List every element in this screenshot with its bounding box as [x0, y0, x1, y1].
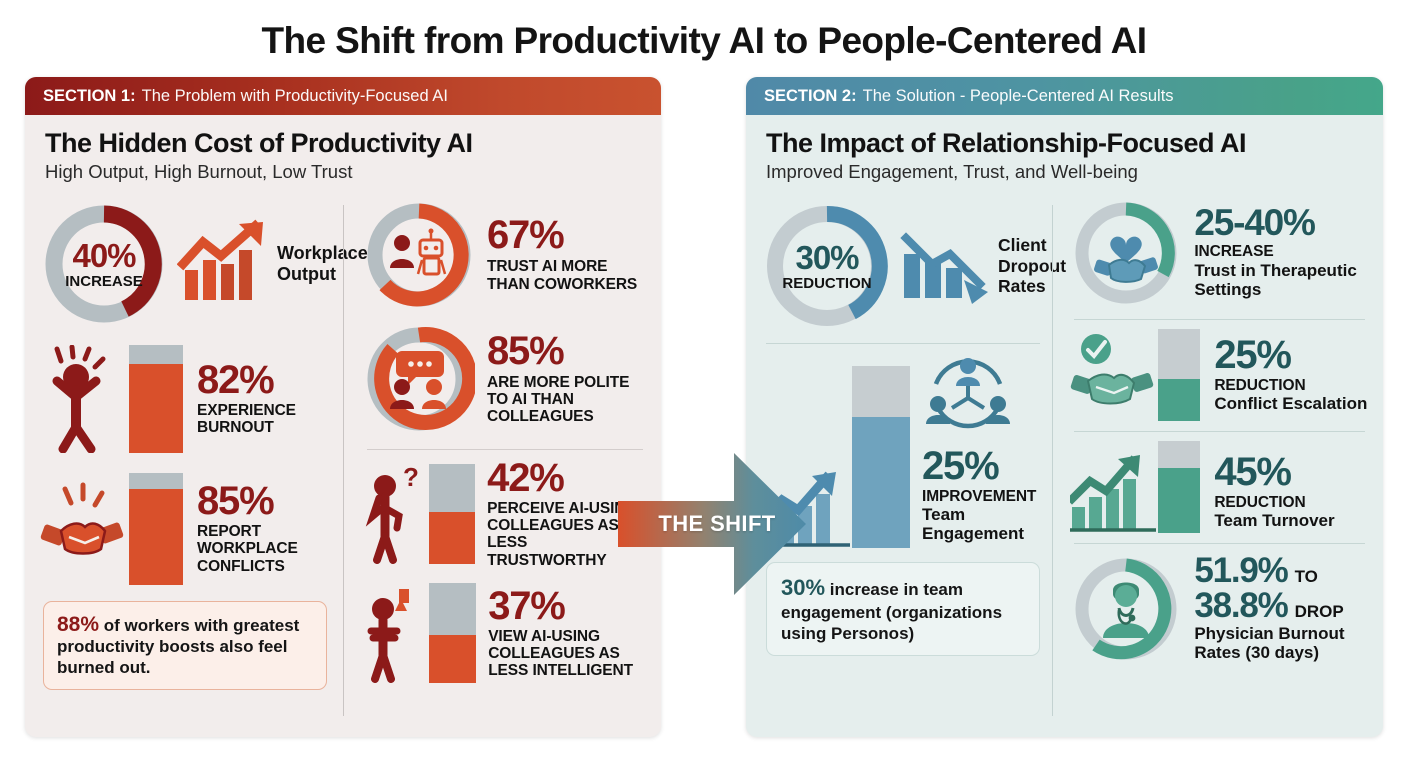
donut-40-value: 40%	[72, 239, 135, 272]
section-2-head: The Impact of Relationship-Focused AI Im…	[746, 115, 1383, 187]
donut-30-reduction: 30% REDUCTION	[760, 199, 894, 333]
trust-therapeutic-sublabel: Trust in TherapeuticSettings	[1194, 261, 1356, 300]
trust-ai-caption: TRUST AI MORE THAN COWORKERS	[487, 258, 647, 293]
physician-sublabel: Physician BurnoutRates (30 days)	[1194, 624, 1344, 663]
trust-therapeutic-value: 25-40%	[1194, 205, 1356, 240]
stat-less-trustworthy: ? 42%	[363, 459, 647, 569]
rising-arrow-chart-icon-green	[1070, 441, 1156, 533]
section-1-vertical-divider	[343, 205, 344, 716]
team-network-icon	[922, 354, 1036, 439]
conflicts-text: 85% REPORT WORKPLACE CONFLICTS	[197, 482, 322, 575]
section-1-header: SECTION 1: The Problem with Productivity…	[25, 77, 661, 115]
stat-more-polite: 85% ARE MORE POLITE TO AI THAN COLLEAGUE…	[363, 323, 647, 435]
stat-workplace-output: 40% INCREASE	[39, 199, 337, 329]
thinking-person-icon: ?	[363, 464, 429, 564]
donut-physician	[1070, 553, 1182, 665]
burnout-text: 82% EXPERIENCE BURNOUT	[197, 361, 337, 437]
svg-text:?: ?	[403, 464, 419, 492]
turnover-value: 45%	[1214, 453, 1334, 491]
section-1-column-b: 67% TRUST AI MORE THAN COWORKERS	[343, 193, 647, 732]
donut-67	[363, 199, 475, 311]
stat-team-turnover: 45% REDUCTION Team Turnover	[1070, 441, 1369, 533]
conflicts-caption: REPORT WORKPLACE CONFLICTS	[197, 523, 322, 575]
broken-handshake-icon	[39, 475, 127, 583]
donut-85-polite	[363, 323, 475, 435]
callout-88: 88% of workers with greatest productivit…	[43, 601, 327, 690]
physician-value-1: 51.9%	[1194, 554, 1287, 587]
stressed-person-icon	[39, 345, 127, 453]
conflict-value: 25%	[1214, 336, 1367, 374]
check-handshake-icon	[1070, 329, 1156, 421]
declining-bar-chart-icon	[898, 220, 996, 312]
physician-suffix-1: TO	[1295, 568, 1318, 586]
team-engagement-text: 25% IMPROVEMENT TeamEngagement	[922, 354, 1036, 548]
section-2-a-divider-1	[766, 343, 1040, 344]
stat-less-intelligent: 37% VIEW AI-USING COLLEAGUES AS LESS INT…	[363, 583, 647, 683]
section-2-b-divider-3	[1074, 543, 1365, 544]
donut-30-label: REDUCTION	[782, 276, 871, 291]
donut-40-increase: 40% INCREASE	[39, 199, 169, 329]
rising-bar-chart-icon	[177, 218, 273, 310]
burnout-bar	[129, 345, 183, 453]
shift-arrow: THE SHIFT	[616, 449, 808, 599]
section-1-tag: SECTION 1:	[43, 87, 136, 106]
section-2-header: SECTION 2: The Solution - People-Centere…	[746, 77, 1383, 115]
section-2-b-divider-2	[1074, 431, 1365, 432]
section-2-columns: 30% REDUCTION Cl	[746, 187, 1383, 732]
donut-25-40	[1070, 197, 1182, 309]
conflicts-value: 85%	[197, 482, 322, 520]
stat-trust-ai-more: 67% TRUST AI MORE THAN COWORKERS	[363, 199, 647, 311]
trust-ai-value: 67%	[487, 216, 647, 254]
donut-30-value: 30%	[795, 241, 858, 274]
disapproving-person-icon	[363, 583, 429, 683]
intelligent-caption: VIEW AI-USING COLLEAGUES AS LESS INTELLI…	[488, 628, 647, 680]
callout-88-pct: 88%	[57, 613, 99, 636]
polite-caption: ARE MORE POLITE TO AI THAN COLLEAGUES	[487, 374, 647, 426]
burnout-value: 82%	[197, 361, 337, 399]
conflict-bar	[1158, 329, 1200, 421]
section-2-tag: SECTION 2:	[764, 87, 857, 106]
polite-value: 85%	[487, 332, 647, 370]
section-2-column-b: 25-40% INCREASE Trust in TherapeuticSett…	[1052, 193, 1369, 732]
stat-physician-burnout: 51.9% TO 38.8% DROP Physician BurnoutRat…	[1070, 553, 1369, 665]
intelligent-text: 37% VIEW AI-USING COLLEAGUES AS LESS INT…	[488, 587, 647, 680]
polite-text: 85% ARE MORE POLITE TO AI THAN COLLEAGUE…	[487, 332, 647, 426]
conflict-text: 25% REDUCTION Conflict Escalation	[1214, 336, 1367, 414]
team-engagement-sublabel: TeamEngagement	[922, 505, 1036, 544]
section-2-b-divider-1	[1074, 319, 1365, 320]
section-1-b-divider-1	[367, 449, 643, 450]
section-1-heading: The Hidden Cost of Productivity AI	[45, 129, 661, 158]
page-title: The Shift from Productivity AI to People…	[0, 0, 1408, 59]
turnover-caption: REDUCTION	[1214, 494, 1334, 511]
section-2-subtitle: The Solution - People-Centered AI Result…	[863, 87, 1174, 106]
trust-ai-text: 67% TRUST AI MORE THAN COWORKERS	[487, 216, 647, 293]
person-and-robot-icon	[363, 199, 475, 311]
trustworthy-bar	[429, 464, 475, 564]
section-2-subheading: Improved Engagement, Trust, and Well-bei…	[766, 161, 1383, 183]
donut-40-label: INCREASE	[65, 274, 143, 289]
physician-value-2: 38.8%	[1194, 589, 1287, 622]
conflict-caption: REDUCTION	[1214, 377, 1367, 394]
physician-suffix-2: DROP	[1295, 603, 1344, 621]
turnover-text: 45% REDUCTION Team Turnover	[1214, 453, 1334, 533]
stat-client-dropout: 30% REDUCTION Cl	[760, 199, 1046, 333]
turnover-bar	[1158, 441, 1200, 533]
stat-trust-therapeutic: 25-40% INCREASE Trust in TherapeuticSett…	[1070, 197, 1369, 309]
team-engagement-value: 25%	[922, 447, 1036, 485]
section-1-panel: SECTION 1: The Problem with Productivity…	[25, 77, 661, 737]
section-1-column-a: 40% INCREASE	[39, 193, 343, 732]
intelligent-bar	[429, 583, 476, 683]
team-engagement-caption: IMPROVEMENT	[922, 488, 1036, 505]
stat-conflict-escalation: 25% REDUCTION Conflict Escalation	[1070, 329, 1369, 421]
stat-experience-burnout: 82% EXPERIENCE BURNOUT	[39, 345, 337, 453]
stat-workplace-conflicts: 85% REPORT WORKPLACE CONFLICTS	[39, 473, 337, 585]
shift-arrow-label: THE SHIFT	[642, 511, 792, 537]
conflict-sublabel: Conflict Escalation	[1214, 394, 1367, 414]
section-1-subtitle: The Problem with Productivity-Focused AI	[142, 87, 448, 106]
section-2-panel: SECTION 2: The Solution - People-Centere…	[746, 77, 1383, 737]
team-engagement-bar	[852, 366, 910, 548]
two-people-chat-icon	[363, 323, 475, 435]
trust-therapeutic-text: 25-40% INCREASE Trust in TherapeuticSett…	[1194, 205, 1356, 300]
section-1-subheading: High Output, High Burnout, Low Trust	[45, 161, 661, 183]
trust-therapeutic-caption: INCREASE	[1194, 243, 1356, 260]
burnout-caption: EXPERIENCE BURNOUT	[197, 402, 337, 437]
section-2-heading: The Impact of Relationship-Focused AI	[766, 129, 1383, 158]
section-1-columns: 40% INCREASE	[25, 187, 661, 732]
turnover-sublabel: Team Turnover	[1214, 511, 1334, 531]
physician-text: 51.9% TO 38.8% DROP Physician BurnoutRat…	[1194, 554, 1344, 663]
doctor-icon	[1070, 553, 1182, 665]
section-2-vertical-divider	[1052, 205, 1053, 716]
heart-handshake-icon	[1070, 197, 1182, 309]
conflicts-bar	[129, 473, 183, 585]
section-1-head: The Hidden Cost of Productivity AI High …	[25, 115, 661, 187]
